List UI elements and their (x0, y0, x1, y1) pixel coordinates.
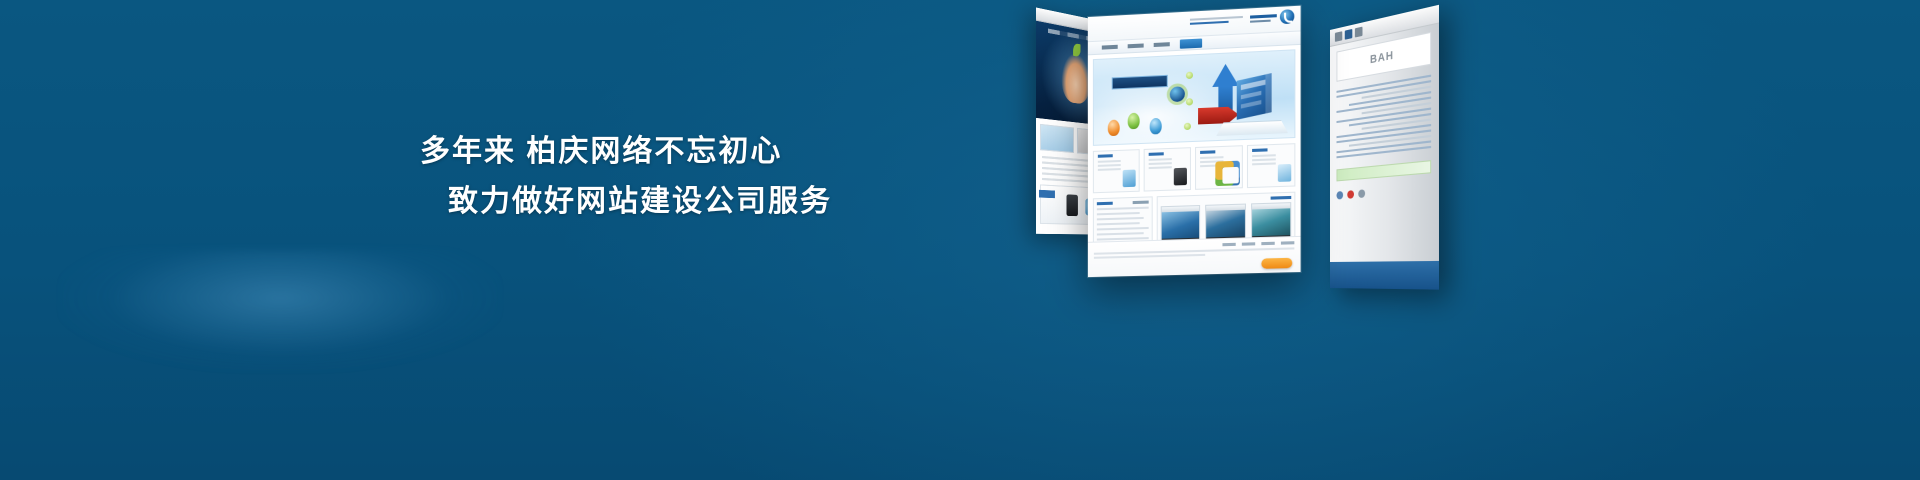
showcase-screen-right[interactable]: BAH (1330, 5, 1439, 290)
grid-dots-icon (1222, 167, 1238, 184)
headline-line-2: 致力做好网站建设公司服务 (448, 180, 1060, 224)
nav-item-2[interactable] (1128, 43, 1144, 48)
floor-glow (60, 250, 500, 370)
feature-card[interactable] (1247, 143, 1295, 188)
green-dot-icon-2 (1186, 98, 1193, 105)
right-highlight-bar (1337, 160, 1432, 181)
device-icon (1123, 170, 1136, 188)
site-logo-text (1250, 12, 1277, 25)
list-item (1097, 232, 1144, 235)
footer-cta-button[interactable] (1261, 258, 1292, 269)
showcase-screen-center[interactable] (1088, 6, 1301, 277)
red-down-arrow-icon (1198, 106, 1239, 124)
hand-sprout-icon (1062, 52, 1090, 105)
blue-up-arrow-icon (1212, 63, 1239, 87)
tablet-icon (1278, 164, 1291, 182)
list-item (1097, 207, 1149, 211)
feature-card[interactable] (1195, 145, 1243, 190)
site-logo[interactable] (1250, 9, 1294, 26)
blue-cube-icon (1237, 73, 1272, 120)
list-item (1097, 217, 1144, 220)
green-dot-icon-1 (1186, 72, 1193, 79)
orange-orb-icon (1108, 120, 1120, 137)
right-footer (1330, 261, 1439, 290)
news-tabs[interactable] (1097, 201, 1149, 206)
website-showcase-group: BAH (1000, 0, 1560, 400)
left-promo-tag (1039, 190, 1055, 198)
right-icon-row (1330, 179, 1439, 204)
list-item (1097, 227, 1149, 231)
nav-item-1[interactable] (1102, 45, 1118, 50)
list-item (1097, 222, 1139, 225)
site-hero-banner (1093, 49, 1296, 146)
nav-item-3[interactable] (1154, 42, 1170, 47)
globe-icon (1170, 86, 1185, 102)
footer-copyright (1094, 247, 1294, 258)
swirl-logo-icon (1280, 9, 1294, 24)
headline-block: 多年来 柏庆网络不忘初心 致力做好网站建设公司服务 (420, 130, 1060, 224)
feature-card-row (1088, 138, 1301, 194)
site-footer (1088, 236, 1301, 277)
headline-line-1: 多年来 柏庆网络不忘初心 (420, 130, 1060, 174)
hero-banner: 多年来 柏庆网络不忘初心 致力做好网站建设公司服务 (0, 0, 1920, 480)
nav-item-active[interactable] (1180, 38, 1202, 48)
right-link-list (1330, 68, 1439, 164)
green-dot-icon-3 (1184, 123, 1191, 130)
site-slogan (1190, 14, 1243, 27)
list-item (1097, 212, 1139, 215)
left-phone-icon (1066, 194, 1077, 216)
feature-card[interactable] (1144, 147, 1191, 191)
blue-orb-icon (1150, 118, 1162, 135)
feature-card[interactable] (1093, 149, 1140, 193)
phone-icon (1174, 168, 1187, 186)
green-orb-icon (1128, 113, 1140, 130)
hero-title-tag (1112, 75, 1168, 90)
